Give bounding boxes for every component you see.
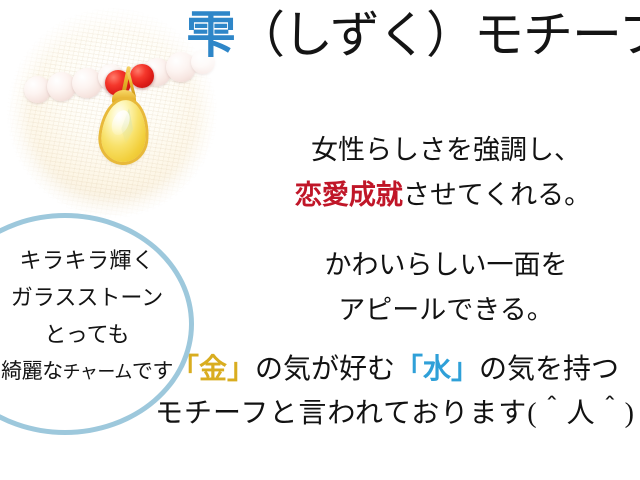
callout-line1: キラキラ輝く <box>0 242 178 279</box>
bead-red-coral <box>130 64 154 88</box>
paragraph-gogyo-line1-d: の気を持つ <box>479 354 619 385</box>
emphasis-renai-jouju: 恋愛成就 <box>295 180 403 210</box>
title-reading: （しずく） <box>235 7 474 63</box>
paragraph-gogyo-line1: 「金」の気が好む「水」の気を持つ <box>150 348 640 392</box>
callout-line3: とっても <box>0 316 178 353</box>
paragraph-cute: かわいらしい一面を アピールできる。 <box>256 243 636 333</box>
callout-line4-c: です <box>132 359 173 383</box>
paragraph-cute-line1: かわいらしい一面を <box>256 243 636 288</box>
callout-line4-a: 綺麗な <box>1 359 63 383</box>
callout-text: キラキラ輝く ガラスストーン とっても 綺麗なチャームです <box>0 242 178 391</box>
paragraph-gogyo: 「金」の気が好む「水」の気を持つ モチーフと言われております(＾人＾) <box>150 348 640 436</box>
paragraph-romance-line2: 恋愛成就させてくれる。 <box>256 173 636 218</box>
element-water-label: 「水」 <box>395 354 479 385</box>
paragraph-cute-line2: アピールできる。 <box>256 288 636 333</box>
paragraph-romance-line1: 女性らしさを強調し、 <box>256 128 636 173</box>
promo-banner: 雫（しずく）モチーフ 女性らしさを強調し、 恋愛成就させてくれる。 かわいらしい… <box>0 0 640 480</box>
callout-line2: ガラスストーン <box>0 279 178 316</box>
callout-line4-b: チャーム <box>63 362 132 382</box>
paragraph-gogyo-line1-b: の気が好む <box>255 354 395 385</box>
callout-line4: 綺麗なチャームです <box>0 353 178 391</box>
paragraph-romance: 女性らしさを強調し、 恋愛成就させてくれる。 <box>256 128 636 218</box>
title-accent-kanji: 雫 <box>186 7 235 63</box>
page-title: 雫（しずく）モチーフ <box>186 6 638 64</box>
title-rest: モチーフ <box>474 7 640 63</box>
paragraph-romance-line2-rest: させてくれる。 <box>403 180 591 210</box>
paragraph-gogyo-line2: モチーフと言われております(＾人＾) <box>150 392 640 436</box>
